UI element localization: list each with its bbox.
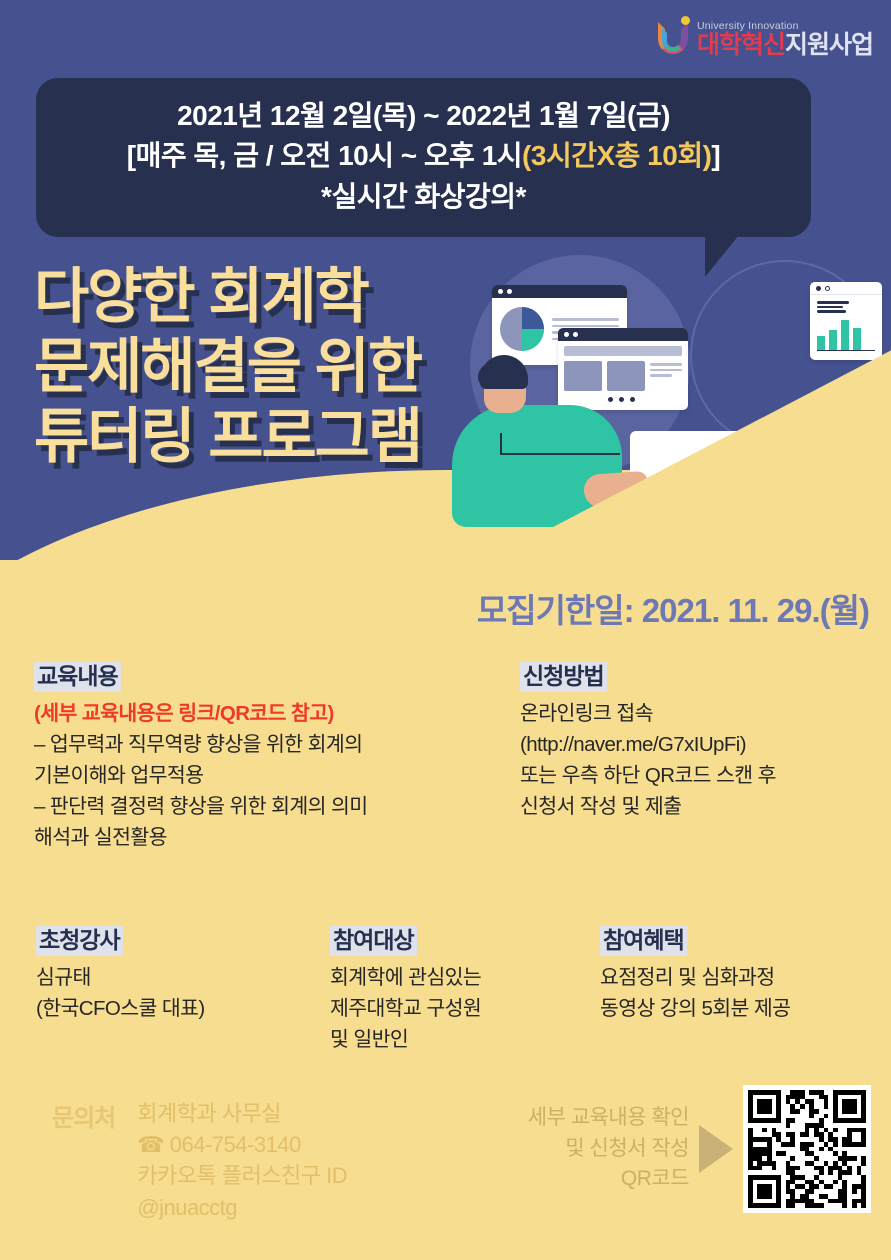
speech-bubble-tail <box>705 235 739 277</box>
contact-line: 카카오톡 플러스친구 ID <box>137 1160 347 1191</box>
title-line-1: 다양한 회계학 <box>34 262 421 332</box>
deadline-text: 모집기한일: 2021. 11. 29.(월) <box>477 584 869 632</box>
lecturer-line: (한국CFO스쿨 대표) <box>36 993 326 1024</box>
qr-caption-line: 세부 교육내용 확인 <box>528 1103 689 1133</box>
qr-caption-line: 및 신청서 작성 <box>528 1134 689 1164</box>
person-arm-line <box>500 453 620 455</box>
logo-english-text: University Innovation <box>697 21 873 32</box>
apply-line: 온라인링크 접속 <box>520 698 870 729</box>
title-line-2: 문제해결을 위한 <box>34 332 421 402</box>
section-target: 참여대상 회계학에 관심있는 제주대학교 구성원 및 일반인 <box>330 926 590 1055</box>
lecturer-line: 심규태 <box>36 962 326 993</box>
benefit-line: 동영상 강의 5회분 제공 <box>600 993 880 1024</box>
banner-line-2-prefix: [매주 목, 금 / 오전 10시 ~ 오후 1시 <box>127 140 522 171</box>
contact-kakao-id: @jnuacctg <box>137 1192 347 1223</box>
section-heading-target: 참여대상 <box>330 926 417 956</box>
logo-korean-white: 지원사업 <box>785 31 873 59</box>
person-arm-line2 <box>500 433 502 455</box>
qr-section: 세부 교육내용 확인 및 신청서 작성 QR코드 <box>528 1085 871 1213</box>
date-banner: 2021년 12월 2일(목) ~ 2022년 1월 7일(금) [매주 목, … <box>36 78 811 237</box>
qr-caption-line: QR코드 <box>528 1164 689 1194</box>
logo-korean-red: 대학혁신 <box>697 31 785 59</box>
section-benefit: 참여혜택 요점정리 및 심화과정 동영상 강의 5회분 제공 <box>600 926 880 1024</box>
qr-code-icon[interactable] <box>743 1085 871 1213</box>
apply-line: 신청서 작성 및 제출 <box>520 791 870 822</box>
person-hair-front <box>478 363 504 389</box>
illustration-person-at-computer <box>430 250 890 540</box>
education-line: 기본이해와 업무적용 <box>34 760 484 791</box>
u-mark-icon <box>658 16 692 58</box>
banner-line-2-suffix: ] <box>711 140 720 171</box>
banner-line-2-highlight: (3시간X총 10회) <box>522 140 711 171</box>
target-line: 제주대학교 구성원 <box>330 993 590 1024</box>
section-heading-lecturer: 초청강사 <box>36 926 123 956</box>
section-education: 교육내용 (세부 교육내용은 링크/QR코드 참고) – 업무력과 직무역량 향… <box>34 662 484 854</box>
title-line-3: 튜터링 프로그램 <box>34 402 421 472</box>
section-lecturer: 초청강사 심규태 (한국CFO스쿨 대표) <box>36 926 326 1024</box>
benefit-line: 요점정리 및 심화과정 <box>600 962 880 993</box>
target-line: 회계학에 관심있는 <box>330 962 590 993</box>
university-innovation-logo: University Innovation 대학혁신지원사업 <box>658 16 873 58</box>
education-line: – 판단력 결정력 향상을 위한 회계의 의미 <box>34 791 484 822</box>
education-line: – 업무력과 직무역량 향상을 위한 회계의 <box>34 729 484 760</box>
page-title: 다양한 회계학 문제해결을 위한 튜터링 프로그램 <box>34 262 421 473</box>
contact-phone: ☎ 064-754-3140 <box>137 1129 347 1160</box>
education-note: (세부 교육내용은 링크/QR코드 참고) <box>34 698 484 729</box>
section-apply: 신청방법 온라인링크 접속 (http://naver.me/G7xIUpFi)… <box>520 662 870 822</box>
target-line: 및 일반인 <box>330 1024 590 1055</box>
section-heading-education: 교육내용 <box>34 662 121 692</box>
banner-line-1: 2021년 12월 2일(목) ~ 2022년 1월 7일(금) <box>46 96 801 136</box>
right-triangle-arrow-icon <box>699 1125 733 1173</box>
banner-line-2: [매주 목, 금 / 오전 10시 ~ 오후 1시(3시간X총 10회)] <box>46 136 801 176</box>
footer-contact: 문의처 회계학과 사무실 ☎ 064-754-3140 카카오톡 플러스친구 I… <box>52 1098 347 1223</box>
education-line: 해석과 실전활용 <box>34 822 484 853</box>
bar-chart-window-icon <box>810 282 882 360</box>
contact-line: 회계학과 사무실 <box>137 1098 347 1129</box>
section-heading-apply: 신청방법 <box>520 662 607 692</box>
qr-caption: 세부 교육내용 확인 및 신청서 작성 QR코드 <box>528 1103 689 1194</box>
banner-line-3: *실시간 화상강의* <box>46 177 801 217</box>
section-heading-benefit: 참여혜택 <box>600 926 687 956</box>
apply-url[interactable]: (http://naver.me/G7xIUpFi) <box>520 729 870 760</box>
contact-label: 문의처 <box>52 1098 115 1223</box>
apply-line: 또는 우측 하단 QR코드 스캔 후 <box>520 760 870 791</box>
